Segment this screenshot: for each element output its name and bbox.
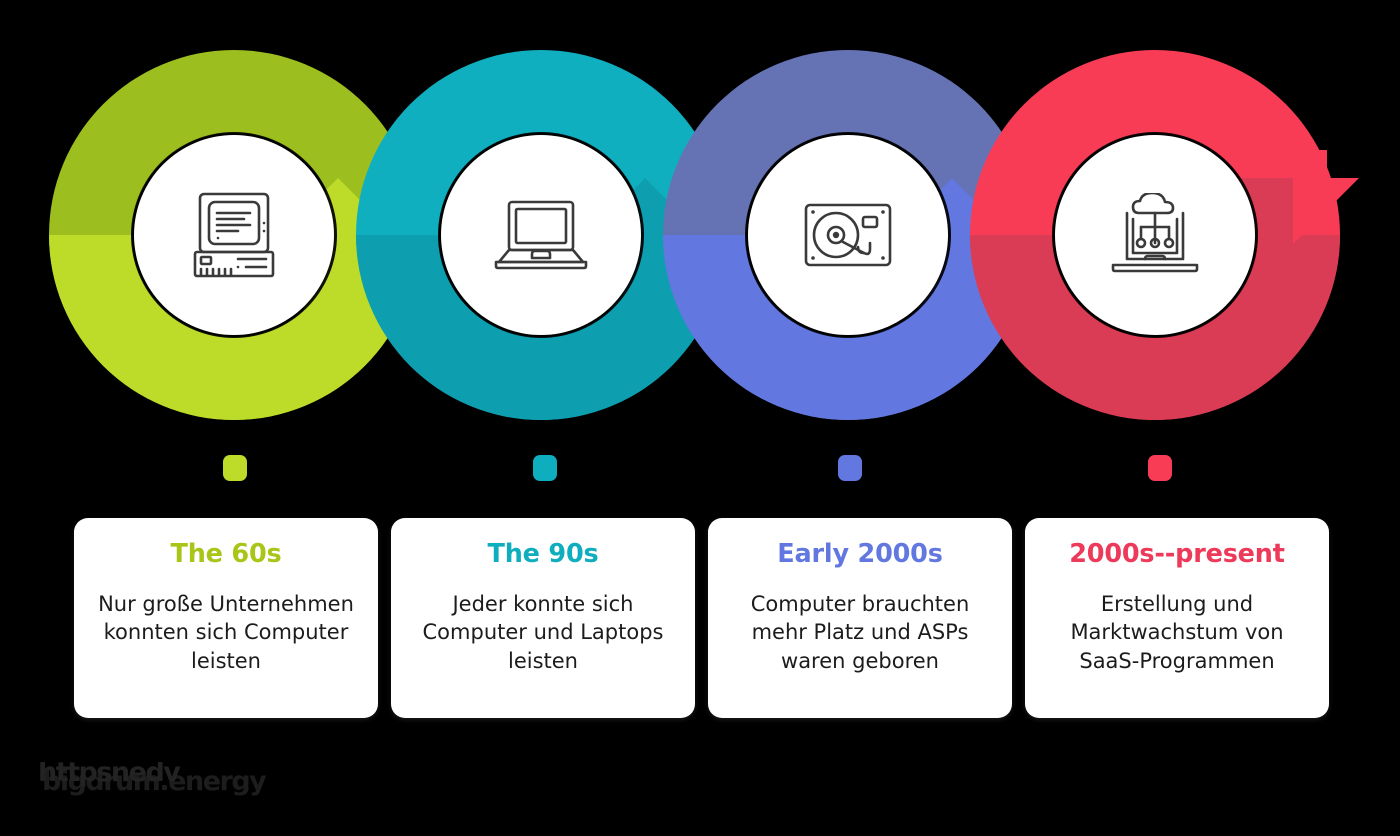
footer-watermark: httpsnedv bigdrum.energy	[38, 762, 318, 804]
infographic-canvas: The 60s Nur große Unternehmen konnten si…	[0, 0, 1400, 836]
hub-early-2000s	[748, 135, 948, 335]
card-body: Erstellung und Marktwachstum von SaaS-Pr…	[1047, 590, 1307, 675]
card-title: The 90s	[488, 540, 599, 568]
cloud-laptop-icon	[1107, 193, 1203, 277]
card-title: 2000s--present	[1069, 540, 1284, 568]
card-body: Nur große Unternehmen konnten sich Compu…	[96, 590, 356, 675]
hard-disk-drive-icon	[802, 201, 894, 269]
marker-early-2000s	[838, 455, 862, 481]
card-2000s-present[interactable]: 2000s--present Erstellung und Marktwachs…	[1025, 518, 1329, 718]
marker-the-60s	[223, 455, 247, 481]
hub-the-90s	[441, 135, 641, 335]
card-the-90s[interactable]: The 90s Jeder konnte sich Computer und L…	[391, 518, 695, 718]
timeline-rings	[0, 0, 1400, 500]
card-title: The 60s	[171, 540, 282, 568]
hub-the-60s	[134, 135, 334, 335]
timeline-cards: The 60s Nur große Unternehmen konnten si…	[0, 518, 1400, 718]
card-body: Jeder konnte sich Computer und Laptops l…	[413, 590, 673, 675]
card-early-2000s[interactable]: Early 2000s Computer brauchten mehr Plat…	[708, 518, 1012, 718]
laptop-icon	[491, 196, 591, 274]
card-the-60s[interactable]: The 60s Nur große Unternehmen konnten si…	[74, 518, 378, 718]
retro-desktop-computer-icon	[186, 189, 282, 281]
marker-the-90s	[533, 455, 557, 481]
watermark-line-2: bigdrum.energy	[42, 771, 265, 792]
card-title: Early 2000s	[777, 540, 942, 568]
hub-2000s-present	[1055, 135, 1255, 335]
marker-2000s-present	[1148, 455, 1172, 481]
card-body: Computer brauchten mehr Platz und ASPs w…	[730, 590, 990, 675]
